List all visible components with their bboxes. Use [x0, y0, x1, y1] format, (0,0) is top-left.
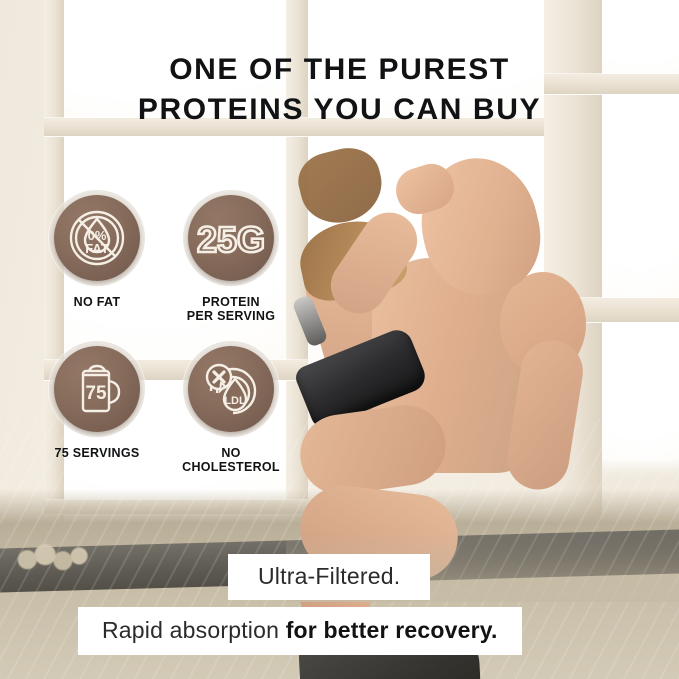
- headline: ONE OF THE PUREST PROTEINS YOU CAN BUY: [0, 50, 679, 130]
- x-badge: [207, 365, 231, 391]
- benefit-badge-row: 75 75 SERVINGS: [30, 341, 298, 474]
- badge-label: NO CHOLESTEROL: [164, 446, 298, 474]
- benefit-badge-row: 0% FAT NO FAT 25G PROTEIN PER SERVING: [30, 190, 298, 323]
- caption-rapid-absorption: Rapid absorption for better recovery.: [78, 607, 522, 655]
- product-infographic-image: ONE OF THE PUREST PROTEINS YOU CAN BUY: [0, 0, 679, 679]
- badge-halo: 75: [49, 341, 145, 437]
- benefit-badge-no-cholesterol: LDL NO CHOLESTEROL: [164, 341, 298, 474]
- no-fat-droplet-icon: 0% FAT: [65, 206, 129, 270]
- badge-icon-text: 75: [85, 383, 107, 404]
- badge-icon-text-bottom: FAT: [85, 241, 109, 256]
- caption-regular-text: Rapid absorption: [102, 617, 286, 643]
- badge-disc: 25G: [188, 195, 274, 281]
- caption-ultra-filtered: Ultra-Filtered.: [228, 554, 430, 600]
- caption-bold-text: for better recovery.: [286, 617, 498, 643]
- protein-grams-icon: 25G: [196, 212, 266, 264]
- badge-halo: 0% FAT: [49, 190, 145, 286]
- badge-icon-text: 25G: [197, 219, 265, 260]
- badge-label: PROTEIN PER SERVING: [164, 295, 298, 323]
- benefit-badge-grid: 0% FAT NO FAT 25G PROTEIN PER SERVING: [30, 190, 298, 474]
- badge-disc: 75: [54, 346, 140, 432]
- benefit-badge-no-fat: 0% FAT NO FAT: [30, 190, 164, 323]
- badge-halo: 25G: [183, 190, 279, 286]
- badge-disc: 0% FAT: [54, 195, 140, 281]
- benefit-badge-servings: 75 75 SERVINGS: [30, 341, 164, 474]
- benefit-badge-protein: 25G PROTEIN PER SERVING: [164, 190, 298, 323]
- no-cholesterol-ldl-icon: LDL: [199, 357, 263, 421]
- badge-label: NO FAT: [30, 295, 164, 309]
- badge-icon-text: LDL: [224, 395, 246, 407]
- badge-disc: LDL: [188, 346, 274, 432]
- man-drinking-protein-shake: [300, 150, 679, 590]
- battle-rope: [14, 541, 88, 575]
- badge-halo: LDL: [183, 341, 279, 437]
- badge-label: 75 SERVINGS: [30, 446, 164, 460]
- servings-shaker-icon: 75: [65, 357, 129, 421]
